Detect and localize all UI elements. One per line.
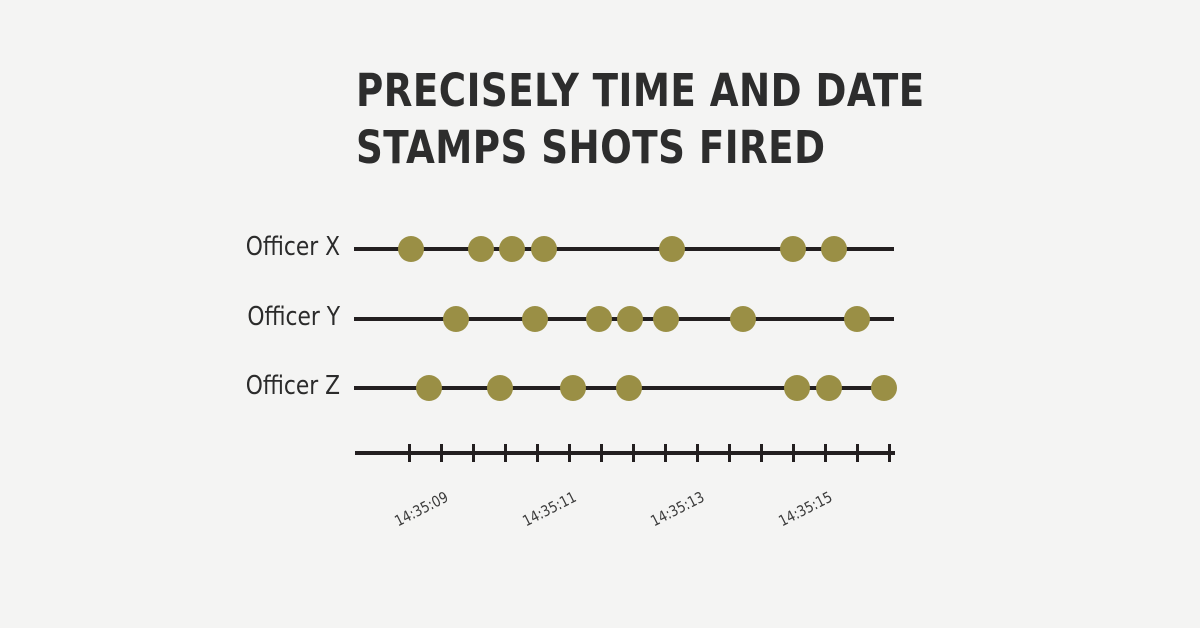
axis-tick xyxy=(760,444,763,462)
shot-marker[interactable] xyxy=(468,236,494,262)
time-axis-line xyxy=(355,451,895,455)
shot-marker[interactable] xyxy=(653,306,679,332)
shot-marker[interactable] xyxy=(487,375,513,401)
row-label-officer-z: Officer Z xyxy=(163,371,340,401)
axis-tick xyxy=(888,444,891,462)
shot-marker[interactable] xyxy=(586,306,612,332)
shot-marker[interactable] xyxy=(844,306,870,332)
axis-tick xyxy=(600,444,603,462)
infographic-canvas: PRECISELY TIME AND DATE STAMPS SHOTS FIR… xyxy=(0,0,1200,628)
shot-marker[interactable] xyxy=(560,375,586,401)
axis-tick-label: 14:35:09 xyxy=(380,488,451,536)
shot-marker[interactable] xyxy=(499,236,525,262)
shot-marker[interactable] xyxy=(522,306,548,332)
shot-marker[interactable] xyxy=(821,236,847,262)
shot-marker[interactable] xyxy=(416,375,442,401)
shot-marker[interactable] xyxy=(531,236,557,262)
timeline-chart: Officer XOfficer YOfficer Z14:35:0914:35… xyxy=(0,0,1200,628)
shot-marker[interactable] xyxy=(617,306,643,332)
axis-tick-label: 14:35:11 xyxy=(508,488,579,536)
shot-marker[interactable] xyxy=(398,236,424,262)
axis-tick xyxy=(824,444,827,462)
axis-tick xyxy=(472,444,475,462)
axis-tick xyxy=(536,444,539,462)
axis-tick xyxy=(856,444,859,462)
shot-marker[interactable] xyxy=(816,375,842,401)
axis-tick xyxy=(568,444,571,462)
shot-marker[interactable] xyxy=(784,375,810,401)
shot-marker[interactable] xyxy=(871,375,897,401)
axis-tick xyxy=(408,444,411,462)
axis-tick xyxy=(664,444,667,462)
shot-marker[interactable] xyxy=(730,306,756,332)
shot-marker[interactable] xyxy=(659,236,685,262)
shot-marker[interactable] xyxy=(780,236,806,262)
row-label-officer-x: Officer X xyxy=(163,232,340,262)
axis-tick-label: 14:35:15 xyxy=(764,488,835,536)
axis-tick-label: 14:35:13 xyxy=(636,488,707,536)
shot-marker[interactable] xyxy=(616,375,642,401)
shot-marker[interactable] xyxy=(443,306,469,332)
row-label-officer-y: Officer Y xyxy=(163,302,340,332)
axis-tick xyxy=(632,444,635,462)
axis-tick xyxy=(504,444,507,462)
timeline-axis-officer-x xyxy=(354,247,894,251)
axis-tick xyxy=(696,444,699,462)
axis-tick xyxy=(728,444,731,462)
axis-tick xyxy=(440,444,443,462)
axis-tick xyxy=(792,444,795,462)
